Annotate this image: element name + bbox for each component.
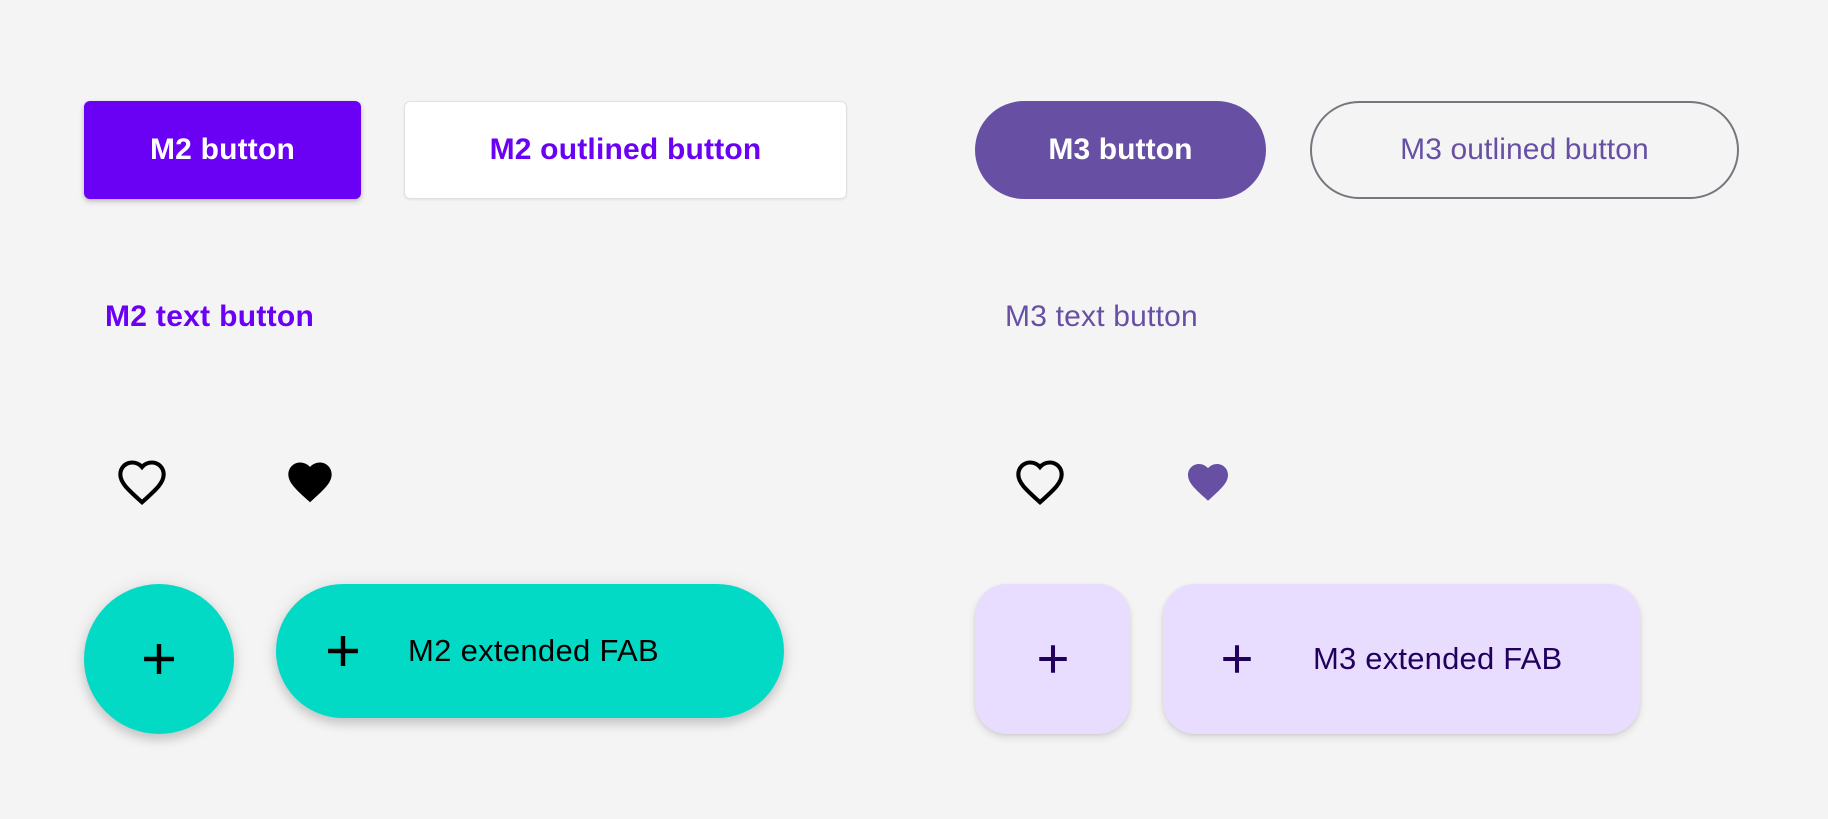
plus-icon [1031, 637, 1075, 681]
plus-icon [1215, 637, 1259, 681]
heart-filled-icon [1184, 458, 1232, 506]
m3-text-button[interactable]: M3 text button [1005, 296, 1198, 338]
m3-extended-fab-label: M3 extended FAB [1313, 641, 1562, 677]
plus-icon [136, 636, 182, 682]
m2-extended-fab-label: M2 extended FAB [408, 633, 659, 669]
m3-outlined-button[interactable]: M3 outlined button [1310, 101, 1739, 199]
heart-outline-icon [116, 456, 168, 508]
m2-fab[interactable] [84, 584, 234, 734]
m2-heart-outline-icon-button[interactable] [114, 454, 170, 510]
m2-outlined-button[interactable]: M2 outlined button [404, 101, 847, 199]
m3-heart-filled-icon-button[interactable] [1180, 454, 1236, 510]
m2-text-button[interactable]: M2 text button [105, 296, 314, 338]
component-comparison-canvas: M2 button M2 outlined button M3 button M… [0, 0, 1828, 819]
m3-extended-fab[interactable]: M3 extended FAB [1163, 584, 1640, 734]
m2-extended-fab[interactable]: M2 extended FAB [276, 584, 784, 718]
m3-heart-outline-icon-button[interactable] [1012, 454, 1068, 510]
m3-fab[interactable] [975, 584, 1130, 734]
heart-outline-icon [1014, 456, 1066, 508]
m2-heart-filled-icon-button[interactable] [282, 454, 338, 510]
heart-filled-icon [284, 456, 336, 508]
m2-filled-button[interactable]: M2 button [84, 101, 361, 199]
plus-icon [320, 628, 366, 674]
m3-filled-button[interactable]: M3 button [975, 101, 1266, 199]
